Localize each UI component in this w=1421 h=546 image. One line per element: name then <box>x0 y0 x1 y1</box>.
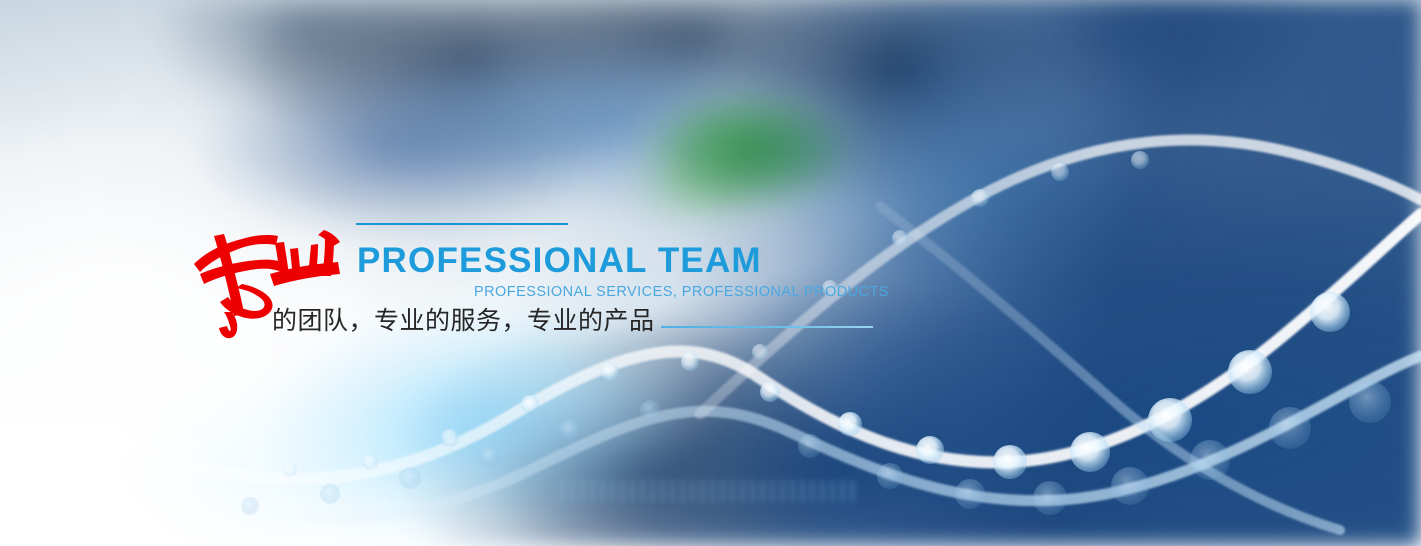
page-subtitle: PROFESSIONAL SERVICES, PROFESSIONAL PROD… <box>474 285 889 300</box>
banner-content: PROFESSIONAL TEAM PROFESSIONAL SERVICES,… <box>0 0 1421 546</box>
decorative-rule-bottom <box>661 326 873 328</box>
page-title: PROFESSIONAL TEAM <box>357 243 762 278</box>
decorative-rule-top <box>356 223 568 225</box>
hero-banner: PROFESSIONAL TEAM PROFESSIONAL SERVICES,… <box>0 0 1421 546</box>
chinese-tagline: 的团队，专业的服务，专业的产品 <box>272 306 655 337</box>
